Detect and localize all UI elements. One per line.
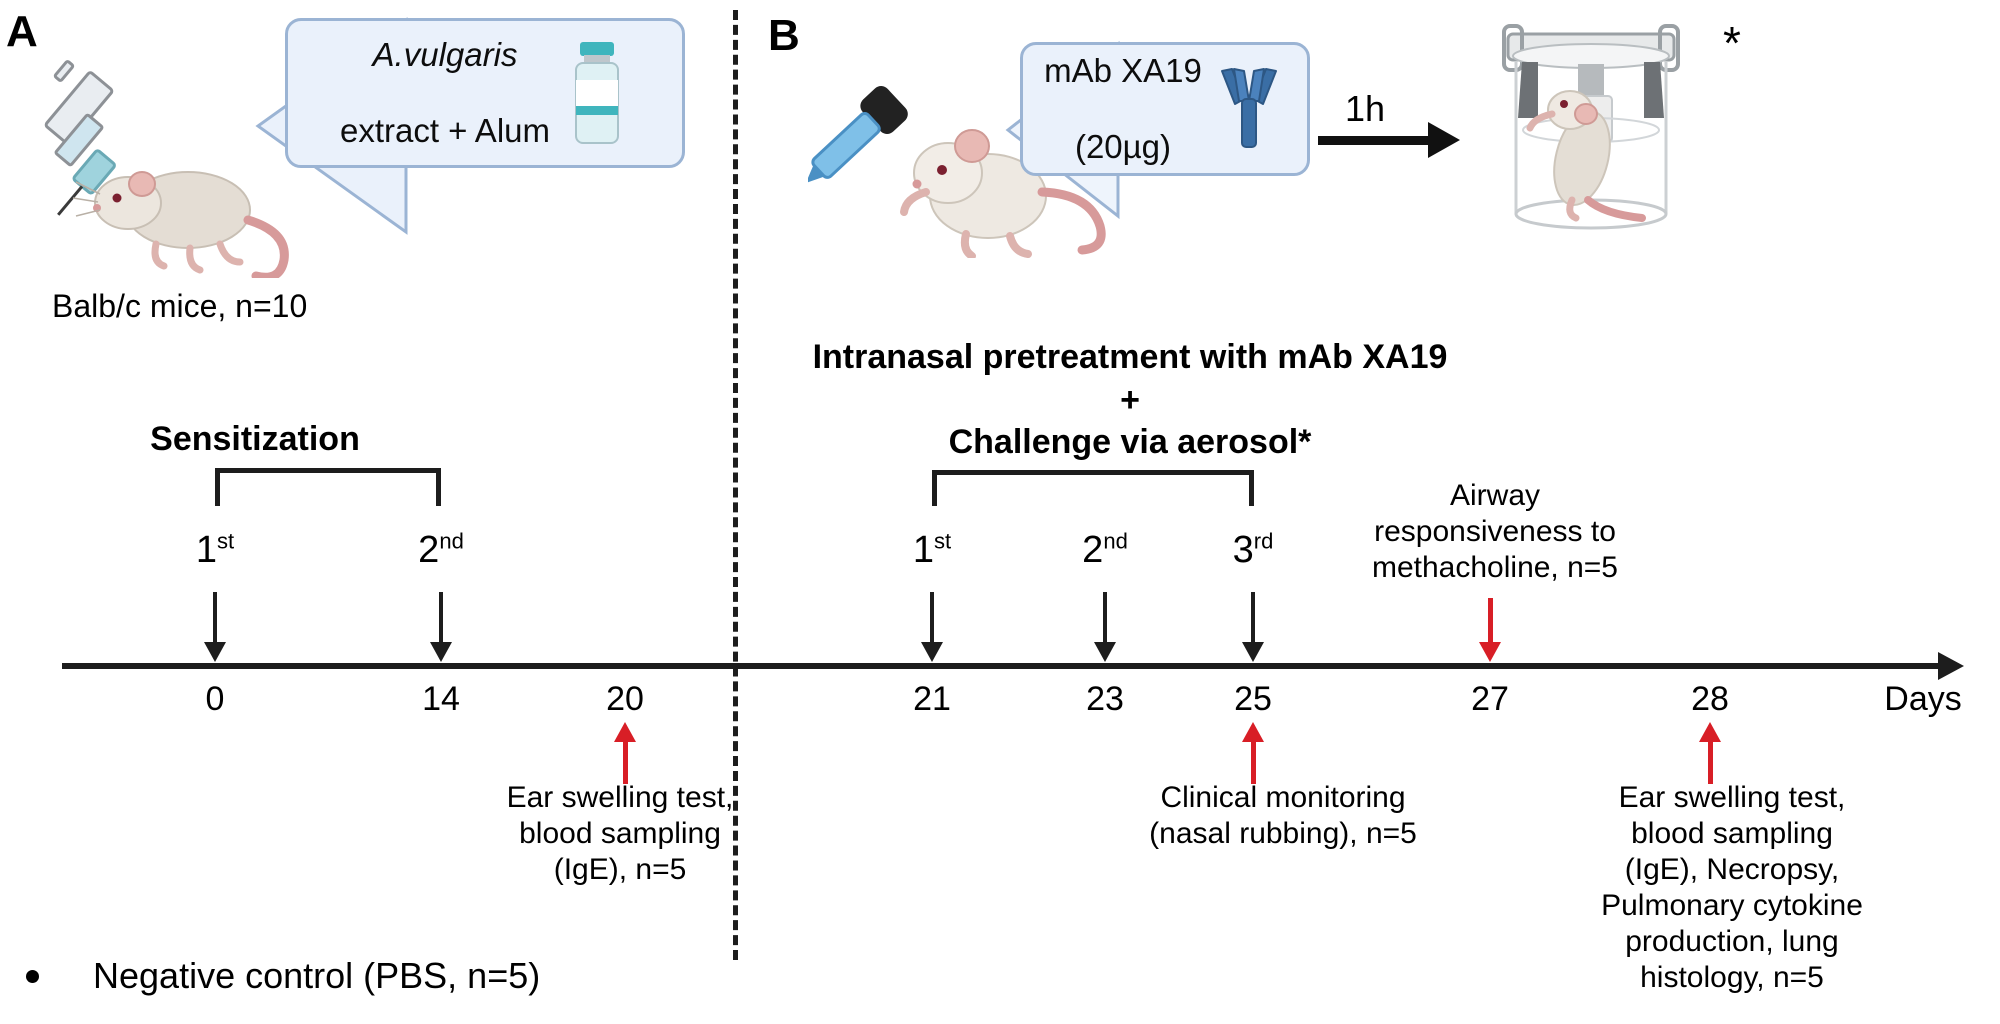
callout-box-panel-a: A.vulgaris extract + Alum [285,18,685,168]
ordinal-text: 2nd [418,529,464,571]
day-label-20: 20 [565,682,685,716]
ordinal-text: 1st [196,529,234,571]
day-label-14: 14 [381,682,501,716]
event-arrow-day21 [921,592,943,662]
callout-line1-a: A.vulgaris [340,36,550,74]
day-label-23: 23 [1045,682,1165,716]
event-arrow-day0 [204,592,226,662]
day-label-27: 27 [1430,682,1550,716]
callout-line2-b: (20µg) [1044,128,1202,166]
ordinal-text: 2nd [1082,529,1128,571]
caption-day28: Ear swelling test, blood sampling (IgE),… [1592,780,1872,996]
axis-label-days: Days [1843,682,2000,716]
event-arrow-day14 [430,592,452,662]
red-marker-day20 [614,722,636,784]
panel-b-letter: B [768,14,799,58]
ordinal-2nd-panel-a: 2nd [371,530,511,569]
panel-divider [733,10,738,960]
day-label-28: 28 [1650,682,1770,716]
footer-bullet-row: Negative control (PBS, n=5) [26,955,540,997]
vaccine-vial-icon [564,38,630,148]
event-arrow-day25 [1242,592,1264,662]
group-title-panel-b: Intranasal pretreatment with mAb XA19 + … [770,336,1490,464]
callout-text-panel-a: A.vulgaris extract + Alum [340,0,550,189]
panel-a-letter: A [6,10,37,54]
day-label-0: 0 [155,682,275,716]
red-marker-day27 [1479,598,1501,662]
callout-line2-a: extract + Alum [340,112,550,150]
ordinal-1st-panel-a: 1st [145,530,285,569]
transition-label-1h: 1h [1345,88,1385,130]
caption-day25-clinical: Clinical monitoring (nasal rubbing), n=5 [1133,780,1433,852]
red-marker-day25 [1242,722,1264,784]
ordinal-2nd-panel-b: 2nd [1035,530,1175,569]
chamber-asterisk: * [1723,20,1741,66]
event-arrow-day23 [1094,592,1116,662]
day-label-21: 21 [872,682,992,716]
bracket-panel-b [932,470,1254,506]
callout-line1-b: mAb XA19 [1044,52,1202,90]
bracket-panel-a [215,468,441,506]
transition-arrow-shaft [1318,136,1430,145]
bullet-dot-icon [26,970,39,983]
footer-bullet-text: Negative control (PBS, n=5) [93,955,540,997]
red-marker-day28 [1699,722,1721,784]
group-title-panel-a: Sensitization [95,418,415,461]
callout-box-panel-b: mAb XA19 (20µg) [1020,42,1310,176]
antibody-icon [1212,67,1286,151]
day-label-25: 25 [1193,682,1313,716]
aerosol-chamber-icon [1460,18,1720,248]
transition-arrow-head [1428,122,1460,158]
ordinal-3rd-panel-b: 3rd [1183,530,1323,569]
subject-label-panel-a: Balb/c mice, n=10 [52,288,307,325]
callout-text-panel-b: mAb XA19 (20µg) [1044,13,1202,204]
figure-root: A A.vulgaris extract [0,0,2000,1024]
ordinal-1st-panel-b: 1st [862,530,1002,569]
caption-day20: Ear swelling test, blood sampling (IgE),… [475,780,765,888]
ordinal-text: 1st [913,529,951,571]
timeline-axis-arrowhead [1938,652,1964,680]
timeline-axis [62,663,1942,669]
ordinal-text: 3rd [1233,529,1274,571]
caption-day27-airway: Airway responsiveness to methacholine, n… [1355,478,1635,586]
